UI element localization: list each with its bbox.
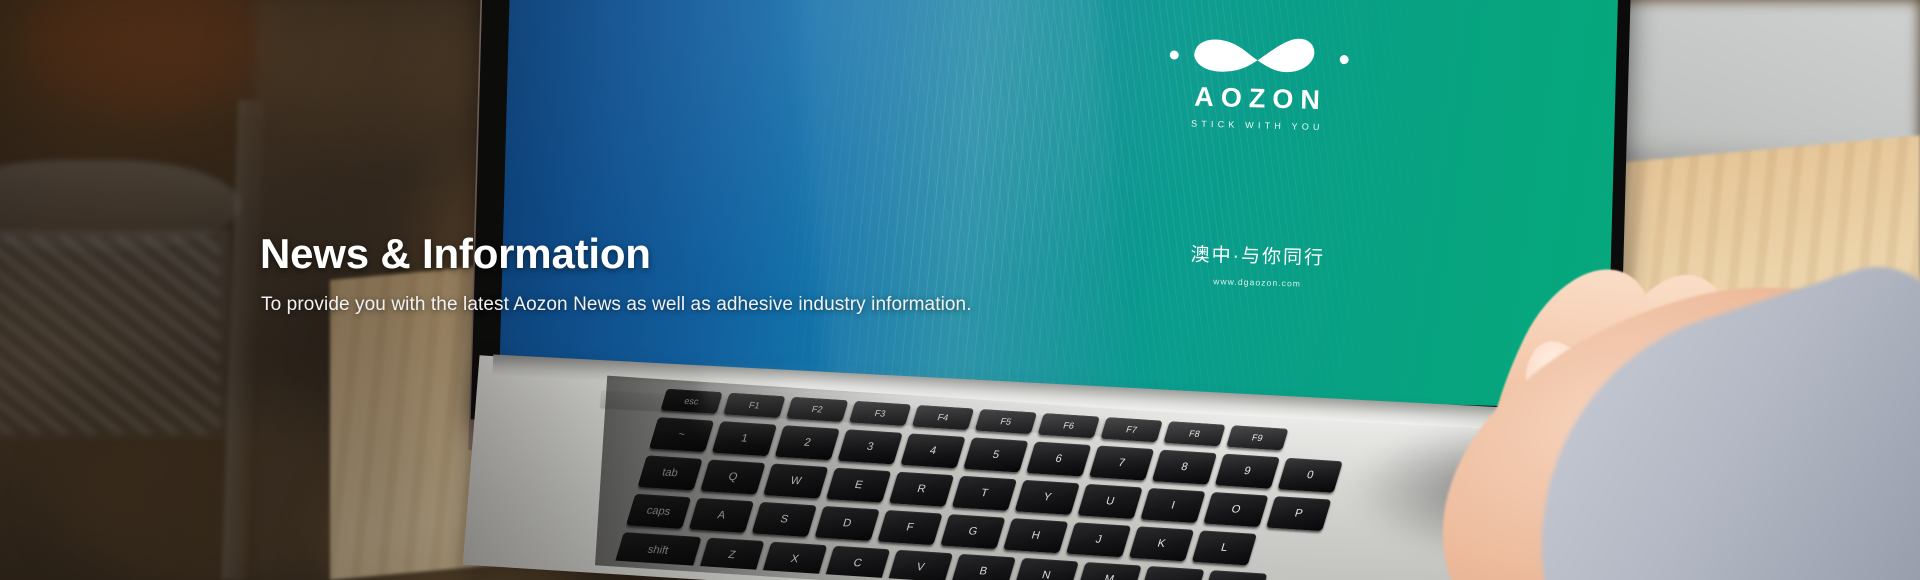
key[interactable]: ~ <box>649 417 714 452</box>
key[interactable]: F3 <box>849 401 911 426</box>
key[interactable]: F1 <box>723 393 785 418</box>
key[interactable]: F2 <box>786 397 848 422</box>
infinity-loop-icon <box>1164 25 1355 82</box>
key[interactable]: W <box>763 464 828 499</box>
key[interactable]: A <box>689 498 754 533</box>
key[interactable]: 5 <box>963 437 1028 472</box>
key[interactable]: V <box>888 550 953 580</box>
key[interactable]: Y <box>1015 480 1080 515</box>
key[interactable]: R <box>889 472 954 507</box>
key[interactable]: F5 <box>975 409 1037 434</box>
key[interactable]: 6 <box>1026 441 1091 476</box>
key[interactable]: F6 <box>1038 413 1100 438</box>
key[interactable]: 7 <box>1089 446 1154 481</box>
key[interactable]: U <box>1077 484 1142 519</box>
key[interactable]: C <box>825 546 890 580</box>
key[interactable]: D <box>814 506 879 541</box>
key[interactable]: 0 <box>1278 458 1343 493</box>
laptop-screen: AOZON STICK WITH YOU 澳中·与你同行 www.dgaozon… <box>499 0 1620 409</box>
banner-copy-block: News & Information To provide you with t… <box>260 232 972 318</box>
key[interactable]: T <box>952 476 1017 511</box>
key[interactable]: esc <box>660 389 722 414</box>
key[interactable]: F4 <box>912 405 974 430</box>
key[interactable]: 3 <box>837 429 902 464</box>
key[interactable]: J <box>1066 522 1131 557</box>
key[interactable]: I <box>1140 488 1205 523</box>
key[interactable]: E <box>826 468 891 503</box>
key[interactable]: F7 <box>1100 417 1162 442</box>
brand-wordmark: AOZON <box>1158 83 1364 116</box>
screen-light-wedge <box>780 0 1133 409</box>
key[interactable]: 8 <box>1152 450 1217 485</box>
key[interactable]: P <box>1266 496 1331 531</box>
key[interactable]: F8 <box>1163 421 1225 446</box>
key[interactable]: caps <box>626 494 691 529</box>
key[interactable]: , <box>1139 566 1204 580</box>
page-subtitle: To provide you with the latest Aozon New… <box>261 293 972 318</box>
aozon-brand-lockup: AOZON STICK WITH YOU <box>1152 25 1365 134</box>
key[interactable]: 4 <box>900 433 965 468</box>
key[interactable]: Q <box>700 459 765 494</box>
key[interactable]: S <box>752 502 817 537</box>
key[interactable]: . <box>1202 570 1267 580</box>
key[interactable]: G <box>940 514 1005 549</box>
key[interactable]: L <box>1192 530 1257 565</box>
key[interactable]: 2 <box>775 425 840 460</box>
chinese-slogan: 澳中·与你同行 <box>1143 238 1374 271</box>
key[interactable]: K <box>1129 526 1194 561</box>
key[interactable]: 9 <box>1215 454 1280 489</box>
key[interactable]: F9 <box>1226 425 1288 450</box>
key[interactable]: M <box>1076 562 1141 580</box>
key[interactable]: tab <box>637 455 702 490</box>
key[interactable]: O <box>1203 492 1268 527</box>
key[interactable]: 1 <box>712 421 777 456</box>
page-title: News & Information <box>260 232 972 276</box>
brand-chinese-block: 澳中·与你同行 www.dgaozon.com <box>1142 238 1373 290</box>
key[interactable]: B <box>951 554 1016 580</box>
key[interactable]: N <box>1014 558 1079 580</box>
key[interactable]: F <box>877 510 942 545</box>
news-information-banner: AOZON STICK WITH YOU 澳中·与你同行 www.dgaozon… <box>0 0 1920 580</box>
key[interactable]: H <box>1003 518 1068 553</box>
